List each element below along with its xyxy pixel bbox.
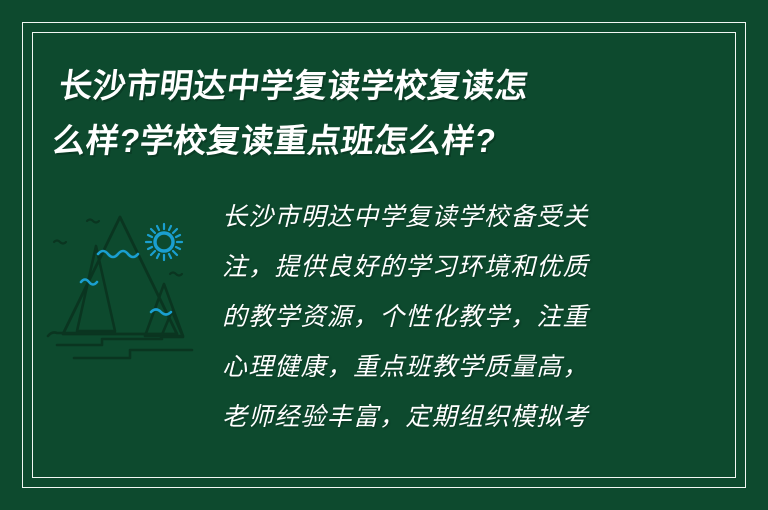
mountain-left-icon [77,246,115,331]
sun-icon [146,224,182,260]
body-line-3: 的教学资源，个性化教学，注重 [222,292,724,342]
snow-wave-large-icon [98,251,138,257]
title-line-1: 长沙市明达中学复读学校复读怎 [56,58,703,113]
title-line-2: 么样?学校复读重点班怎么样? [49,113,696,168]
snow-wave-left-icon [81,280,97,285]
body-line-2: 注，提供良好的学习环境和优质 [222,242,724,292]
cloud-dash-left-icon [54,241,66,244]
body-line-1: 长沙市明达中学复读学校备受关 [222,192,724,242]
body-paragraph: 长沙市明达中学复读学校备受关 注，提供良好的学习环境和优质 的教学资源，个性化教… [222,192,724,442]
article-cover-card: 长沙市明达中学复读学校复读怎 么样?学校复读重点班怎么样? [0,0,768,510]
body-line-5: 老师经验丰富，定期组织模拟考 [222,392,724,442]
cloud-dash-right-icon [170,273,182,276]
body-line-4: 心理健康，重点班教学质量高， [222,342,724,392]
cloud-dash-top-icon [87,220,99,223]
page-title: 长沙市明达中学复读学校复读怎 么样?学校复读重点班怎么样? [49,58,703,168]
content-row: 长沙市明达中学复读学校备受关 注，提供良好的学习环境和优质 的教学资源，个性化教… [44,192,724,466]
mountains-with-sun-illustration [44,198,204,373]
